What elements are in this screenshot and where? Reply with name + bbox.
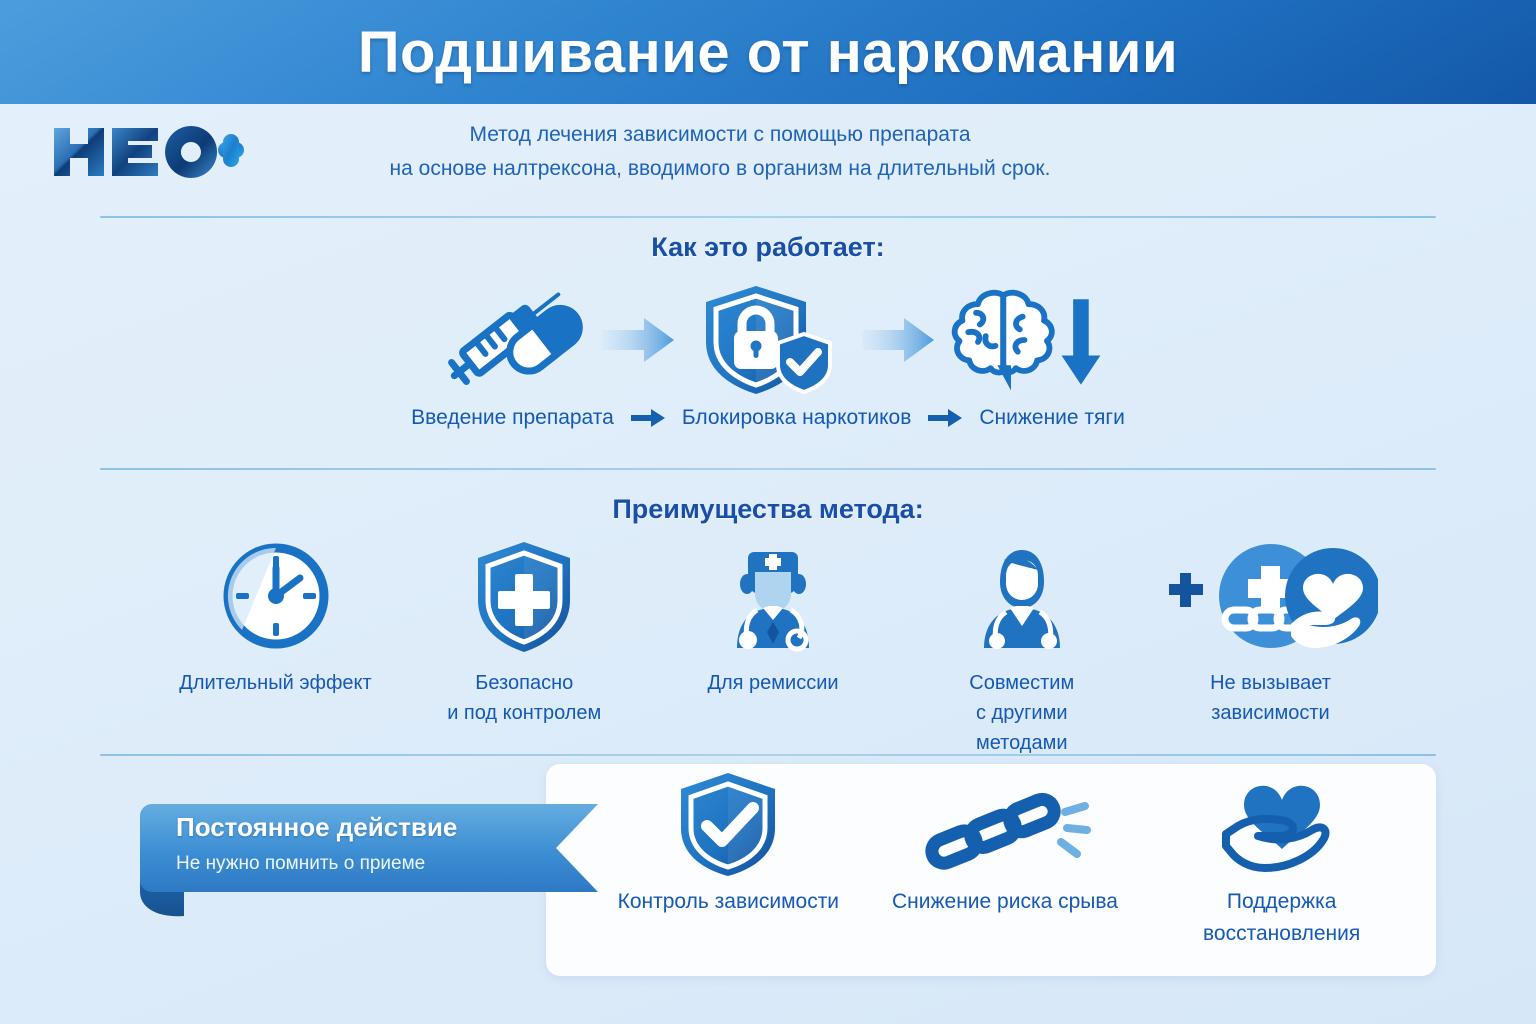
step-label-arrow-2 — [925, 409, 965, 427]
divider-middle — [100, 468, 1436, 470]
shield-check-icon — [674, 770, 782, 878]
logo-letter-e — [112, 128, 158, 176]
shield-cross-icon — [472, 540, 576, 652]
doctor-figure — [737, 552, 809, 649]
advantage-label-duration: Длительный эффект — [179, 668, 371, 698]
ribbon-text: Постоянное действие Не нужно помнить о п… — [176, 812, 596, 875]
logo-letter-h — [54, 128, 104, 176]
how-it-works-heading: Как это работает: — [0, 232, 1536, 263]
bottom-item-support: Поддержка восстановления — [1167, 770, 1397, 950]
divider-bottom — [100, 754, 1436, 756]
shield-lock-icon — [706, 286, 830, 394]
advantage-item-remission: Для ремиссии — [666, 540, 881, 698]
divider-top — [100, 216, 1436, 218]
chain-heart-circles-icon — [1163, 540, 1378, 652]
advantage-item-duration: Длительный эффект — [168, 540, 383, 698]
advantage-item-no-addiction: Не вызывает зависимости — [1163, 540, 1378, 728]
step-arrow-1 — [593, 282, 683, 398]
bottom-label-control: Контроль зависимости — [618, 886, 839, 918]
advantage-label-line1: Длительный эффект — [179, 668, 371, 698]
intro-row: Метод лечения зависимости с помощью преп… — [0, 104, 1536, 216]
broken-chain-links — [929, 796, 1059, 867]
ribbon-title: Постоянное действие — [176, 812, 596, 843]
advantage-item-safety: Безопасно и под контролем — [417, 540, 632, 728]
brand-logo — [48, 118, 248, 184]
broken-chain-icon — [917, 770, 1092, 878]
intro-text: Метод лечения зависимости с помощью преп… — [290, 118, 1150, 186]
advantage-label-compatible: Совместим с другими методами — [969, 668, 1074, 758]
bottom-label-line1: Снижение риска срыва — [892, 886, 1118, 918]
step-arrow-2 — [853, 282, 943, 398]
medic-person-icon — [964, 540, 1080, 652]
logo-letter-o — [165, 126, 217, 178]
step-icon-brain-down — [943, 282, 1113, 398]
advantage-label-line1: Не вызывает — [1210, 668, 1331, 698]
step-icon-shield-lock — [683, 282, 853, 398]
advantage-label-line1: Безопасно — [447, 668, 601, 698]
step-label-2: Блокировка наркотиков — [682, 406, 912, 430]
doctor-icon — [715, 540, 831, 652]
bottom-label-line1: Поддержка — [1203, 886, 1360, 918]
advantage-label-line2: зависимости — [1210, 698, 1331, 728]
advantage-label-remission: Для ремиссии — [707, 668, 838, 698]
arrow-right-icon — [928, 409, 962, 427]
advantage-label-safety: Безопасно и под контролем — [447, 668, 601, 728]
advantage-label-line1: Совместим — [969, 668, 1074, 698]
advantages-heading: Преимущества метода: — [0, 494, 1536, 525]
intro-line-2: на основе налтрексона, вводимого в орган… — [290, 152, 1150, 186]
advantage-item-compatible: Совместим с другими методами — [914, 540, 1129, 758]
bottom-label-line2: восстановления — [1203, 918, 1360, 950]
bottom-label-line1: Контроль зависимости — [618, 886, 839, 918]
arrow-right-icon — [631, 409, 665, 427]
arrow-down-icon — [1062, 299, 1101, 384]
intro-line-1: Метод лечения зависимости с помощью преп… — [469, 123, 970, 146]
advantage-label-line2: и под контролем — [447, 698, 601, 728]
brain-icon — [955, 293, 1052, 373]
bottom-label-relapse: Снижение риска срыва — [892, 886, 1118, 918]
step-icon-syringe-pill — [423, 282, 593, 398]
arrow-right-icon — [602, 318, 674, 362]
advantages-list: Длительный эффект Безопасно и под контро… — [168, 540, 1378, 755]
chain-burst-lines — [1061, 806, 1087, 854]
shield-check-badge-icon — [778, 334, 830, 392]
plus-sign-icon — [1169, 573, 1203, 607]
advantage-label-line2: с другими — [969, 698, 1074, 728]
advantage-label-no-addiction: Не вызывает зависимости — [1210, 668, 1331, 728]
syringe-pill-icon — [446, 284, 587, 387]
bottom-items-list: Контроль зависимости Сн — [590, 770, 1420, 970]
step-label-1: Введение препарата — [411, 406, 614, 430]
logo-plus-sign — [218, 134, 244, 167]
step-label-3: Снижение тяги — [979, 406, 1124, 430]
how-it-works-icons — [0, 282, 1536, 398]
bottom-item-relapse: Снижение риска срыва — [890, 770, 1120, 918]
brain-down-arrow-icon — [955, 293, 1101, 391]
hand-heart-icon — [1212, 770, 1352, 878]
page-header: Подшивание от наркомании — [0, 0, 1536, 104]
medic-person-figure — [984, 550, 1060, 649]
step-label-arrow-1 — [628, 409, 668, 427]
ribbon-subtitle: Не нужно помнить о приеме — [176, 853, 596, 875]
clock-icon — [220, 540, 332, 652]
advantage-label-line1: Для ремиссии — [707, 668, 838, 698]
arrow-right-icon — [862, 318, 934, 362]
how-it-works-labels: Введение препарата Блокировка наркотиков… — [0, 406, 1536, 430]
bottom-label-support: Поддержка восстановления — [1203, 886, 1360, 950]
page-title: Подшивание от наркомании — [358, 19, 1178, 86]
hand-heart-circle-icon — [1285, 548, 1378, 648]
